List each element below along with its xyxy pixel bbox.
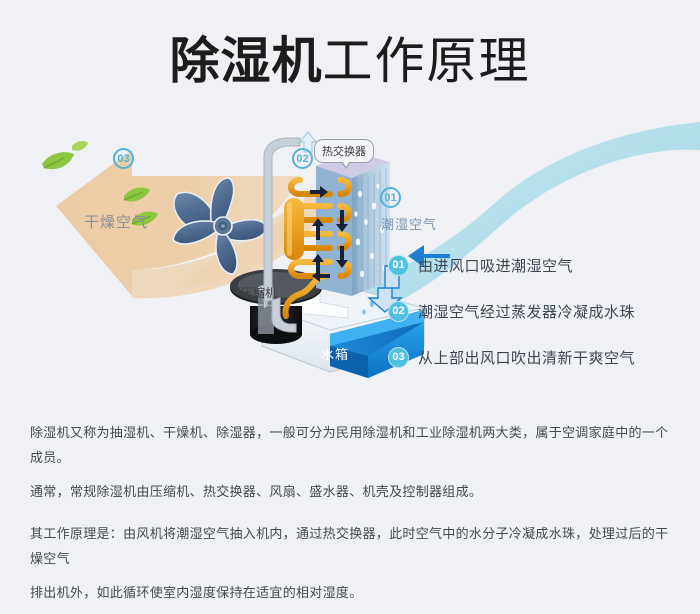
steps-list: 01 由进风口吸进潮湿空气 02 潮湿空气经过蒸发器冷凝成水珠 03 从上部出风… bbox=[388, 252, 688, 390]
infographic-page: 除湿机工作原理 bbox=[0, 0, 700, 566]
diagram-badge-02: 02 bbox=[292, 148, 313, 169]
step-badge-01: 01 bbox=[388, 255, 409, 276]
humid-air-label: 潮湿空气 bbox=[381, 214, 437, 233]
list-item: 02 潮湿空气经过蒸发器冷凝成水珠 bbox=[388, 298, 688, 324]
compressor-label: 压缩机 bbox=[241, 284, 277, 301]
diagram-badge-01: 01 bbox=[380, 187, 401, 208]
paragraph-2: 通常，常规除湿机由压缩机、热交换器、风扇、盛水器、机壳及控制器组成。 bbox=[30, 479, 675, 504]
title-light-part: 工作原理 bbox=[323, 33, 531, 89]
diagram-badge-03: 03 bbox=[113, 148, 134, 169]
paragraph-3: 其工作原理是：由风机将潮湿空气抽入机内，通过热交换器，此时空气中的水分子冷凝成水… bbox=[30, 521, 675, 571]
step-badge-02: 02 bbox=[388, 301, 409, 322]
step-text-03: 从上部出风口吹出清新干爽空气 bbox=[418, 347, 635, 368]
paragraph-4: 排出机外，如此循环使室内湿度保持在适宜的相对湿度。 bbox=[30, 580, 675, 605]
heat-exchanger-label: 热交换器 bbox=[322, 146, 366, 158]
step-text-01: 由进风口吸进潮湿空气 bbox=[418, 255, 573, 276]
step-text-02: 潮湿空气经过蒸发器冷凝成水珠 bbox=[418, 301, 635, 322]
list-item: 01 由进风口吸进潮湿空气 bbox=[388, 252, 688, 278]
step-badge-03: 03 bbox=[388, 347, 409, 368]
heat-exchanger-callout: 热交换器 bbox=[314, 139, 374, 163]
title-bold-part: 除湿机 bbox=[170, 33, 323, 89]
list-item: 03 从上部出风口吹出清新干爽空气 bbox=[388, 344, 688, 370]
paragraph-1: 除湿机又称为抽湿机、干燥机、除湿器，一般可分为民用除湿机和工业除湿机两大类，属于… bbox=[30, 420, 675, 470]
page-title: 除湿机工作原理 bbox=[0, 30, 700, 92]
description-block: 除湿机又称为抽湿机、干燥机、除湿器，一般可分为民用除湿机和工业除湿机两大类，属于… bbox=[30, 420, 675, 614]
water-tank-label: 水箱 bbox=[321, 344, 349, 363]
dry-air-label: 干燥空气 bbox=[84, 211, 148, 232]
